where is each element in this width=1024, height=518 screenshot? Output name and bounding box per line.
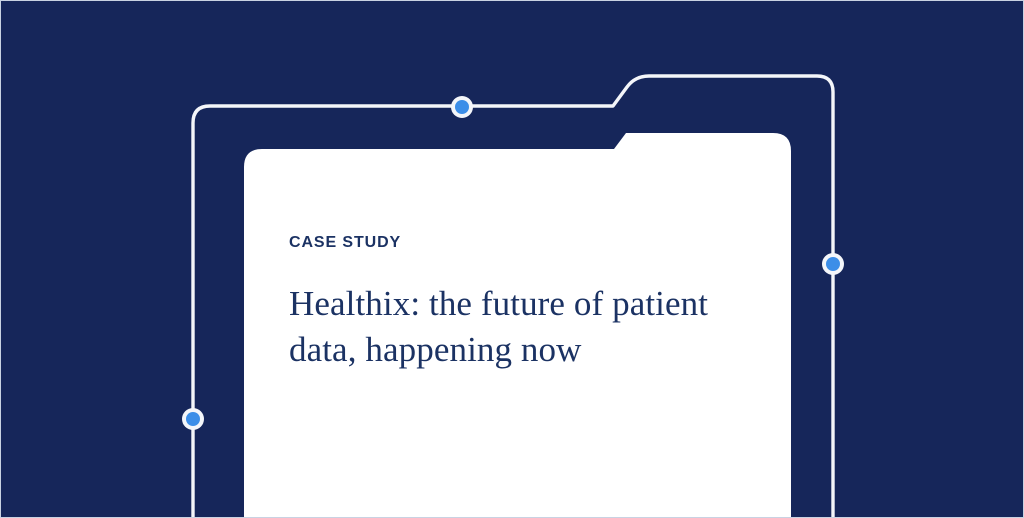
case-study-card: CASE STUDY Healthix: the future of patie… bbox=[244, 133, 791, 518]
eyebrow-label: CASE STUDY bbox=[289, 233, 759, 253]
circuit-node-right-icon bbox=[826, 257, 840, 271]
circuit-node-top-icon bbox=[455, 100, 469, 114]
page-title: Healthix: the future of patientdata, hap… bbox=[289, 281, 759, 373]
card-text-block: CASE STUDY Healthix: the future of patie… bbox=[289, 233, 759, 373]
circuit-node-left-icon bbox=[186, 412, 200, 426]
case-study-slide: CASE STUDY Healthix: the future of patie… bbox=[0, 0, 1024, 518]
headline-line-1: Healthix: the future of patient bbox=[289, 284, 708, 323]
headline-line-2: data, happening now bbox=[289, 330, 582, 369]
